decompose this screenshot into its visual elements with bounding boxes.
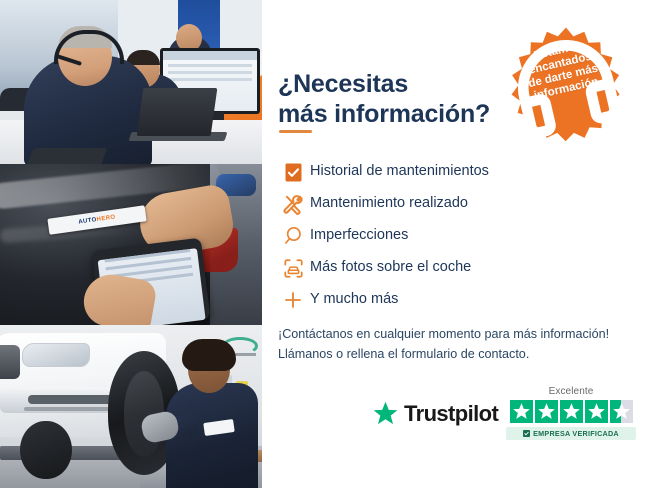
page-title-line-2: más información?	[278, 100, 490, 128]
car-headlight	[22, 343, 90, 367]
trustpilot-rating-label: Excelente	[506, 386, 636, 397]
star-half	[610, 400, 633, 423]
promo-badge: Estamos encantados de darte más informac…	[502, 24, 630, 152]
tools-icon	[276, 194, 310, 215]
star-filled	[560, 400, 583, 423]
screen-row	[168, 64, 252, 67]
star-filled	[585, 400, 608, 423]
feature-item-historial: Historial de mantenimientos	[276, 156, 636, 188]
contact-line-2: Llámanos o rellena el formulario de cont…	[278, 344, 634, 364]
screen-toolbar	[163, 51, 257, 60]
information-banner: AUTOHERO	[0, 0, 650, 488]
desk-tablet	[27, 148, 108, 164]
trustpilot-star-icon	[372, 400, 399, 427]
feature-label: Y mucho más	[310, 292, 398, 308]
feature-label: Mantenimiento realizado	[310, 196, 468, 212]
page-title: ¿Necesitas más información?	[278, 69, 518, 130]
feature-label: Imperfecciones	[310, 228, 408, 244]
car-frame-icon	[276, 258, 310, 279]
screen-row	[168, 71, 252, 74]
trustpilot-stars	[506, 400, 636, 423]
feature-list: Historial de mantenimientos Mantenimient…	[276, 156, 636, 316]
star-filled	[510, 400, 533, 423]
feature-item-mantenimiento: Mantenimiento realizado	[276, 188, 636, 220]
verified-check-icon	[523, 430, 530, 437]
wheel-inspection-photo	[0, 325, 262, 488]
star-filled	[535, 400, 558, 423]
verified-business-label: EMPRESA VERIFICADA	[533, 429, 619, 438]
feature-item-imperfecciones: Imperfecciones	[276, 220, 636, 252]
magnifier-icon	[276, 226, 310, 246]
feature-label: Más fotos sobre el coche	[310, 260, 471, 276]
trustpilot-rating: Excelente	[506, 386, 636, 440]
call-center-agents-photo	[0, 0, 262, 164]
ruler-brand-label: AUTOHERO	[78, 214, 116, 225]
rear-tire	[20, 421, 72, 479]
clipboard-check-icon	[276, 162, 310, 183]
trustpilot-wordmark: Trustpilot	[404, 401, 498, 427]
content-panel: ¿Necesitas más información? Estamos enca…	[262, 0, 650, 488]
feature-item-mucho-mas: Y mucho más	[276, 284, 636, 316]
page-title-line-1: ¿Necesitas	[278, 70, 408, 98]
feature-item-fotos: Más fotos sobre el coche	[276, 252, 636, 284]
screen-row	[168, 78, 252, 81]
car-grille	[0, 345, 20, 379]
contact-text: ¡Contáctanos en cualquier momento para m…	[278, 324, 634, 365]
laptop-screen	[137, 88, 218, 136]
photo-column: AUTOHERO	[0, 0, 262, 488]
contact-line-1: ¡Contáctanos en cualquier momento para m…	[278, 324, 634, 344]
trustpilot-logo: Trustpilot	[372, 400, 498, 427]
plus-icon	[276, 290, 310, 310]
feature-label: Historial de mantenimientos	[310, 164, 489, 180]
verified-business-badge: EMPRESA VERIFICADA	[506, 427, 636, 440]
trustpilot-block: Trustpilot Excelente	[372, 386, 636, 452]
technician-hair	[182, 339, 236, 371]
car-inspection-ruler-photo: AUTOHERO	[0, 164, 262, 325]
title-underline	[279, 130, 312, 133]
